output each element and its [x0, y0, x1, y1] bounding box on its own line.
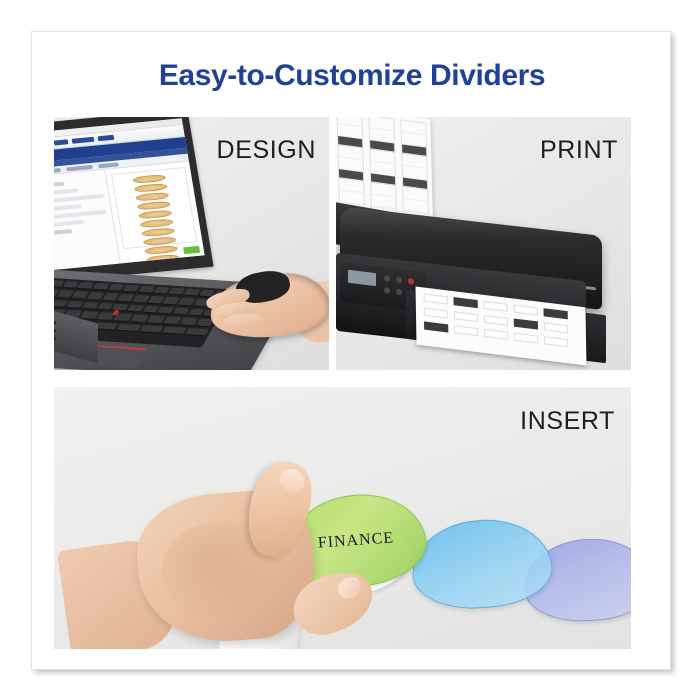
panel-label-insert: INSERT	[520, 407, 615, 436]
panel-design: DESIGN	[54, 117, 329, 370]
divider-preview	[111, 167, 197, 249]
hands-inserting-label	[132, 447, 432, 647]
panel-label-print: PRINT	[540, 136, 618, 165]
laptop-screen	[54, 118, 205, 270]
hand-on-trackpad	[192, 267, 329, 357]
laptop-lid	[54, 117, 214, 283]
divider-tab-stack	[132, 174, 180, 266]
printer-lcd-display	[348, 270, 376, 286]
screen-primary-button[interactable]	[183, 246, 200, 254]
thumbnail	[276, 465, 309, 496]
screen-preview-pane	[105, 162, 204, 264]
page-title: Easy-to-Customize Dividers	[32, 59, 672, 93]
panel-print: PRINT	[336, 117, 631, 370]
panel-label-design: DESIGN	[217, 136, 316, 165]
screenshot-root: Easy-to-Customize Dividers	[0, 0, 700, 700]
product-card: Easy-to-Customize Dividers	[31, 31, 671, 670]
screen-workspace	[54, 162, 205, 271]
panel-insert: FINANCE INSERT	[54, 387, 631, 649]
